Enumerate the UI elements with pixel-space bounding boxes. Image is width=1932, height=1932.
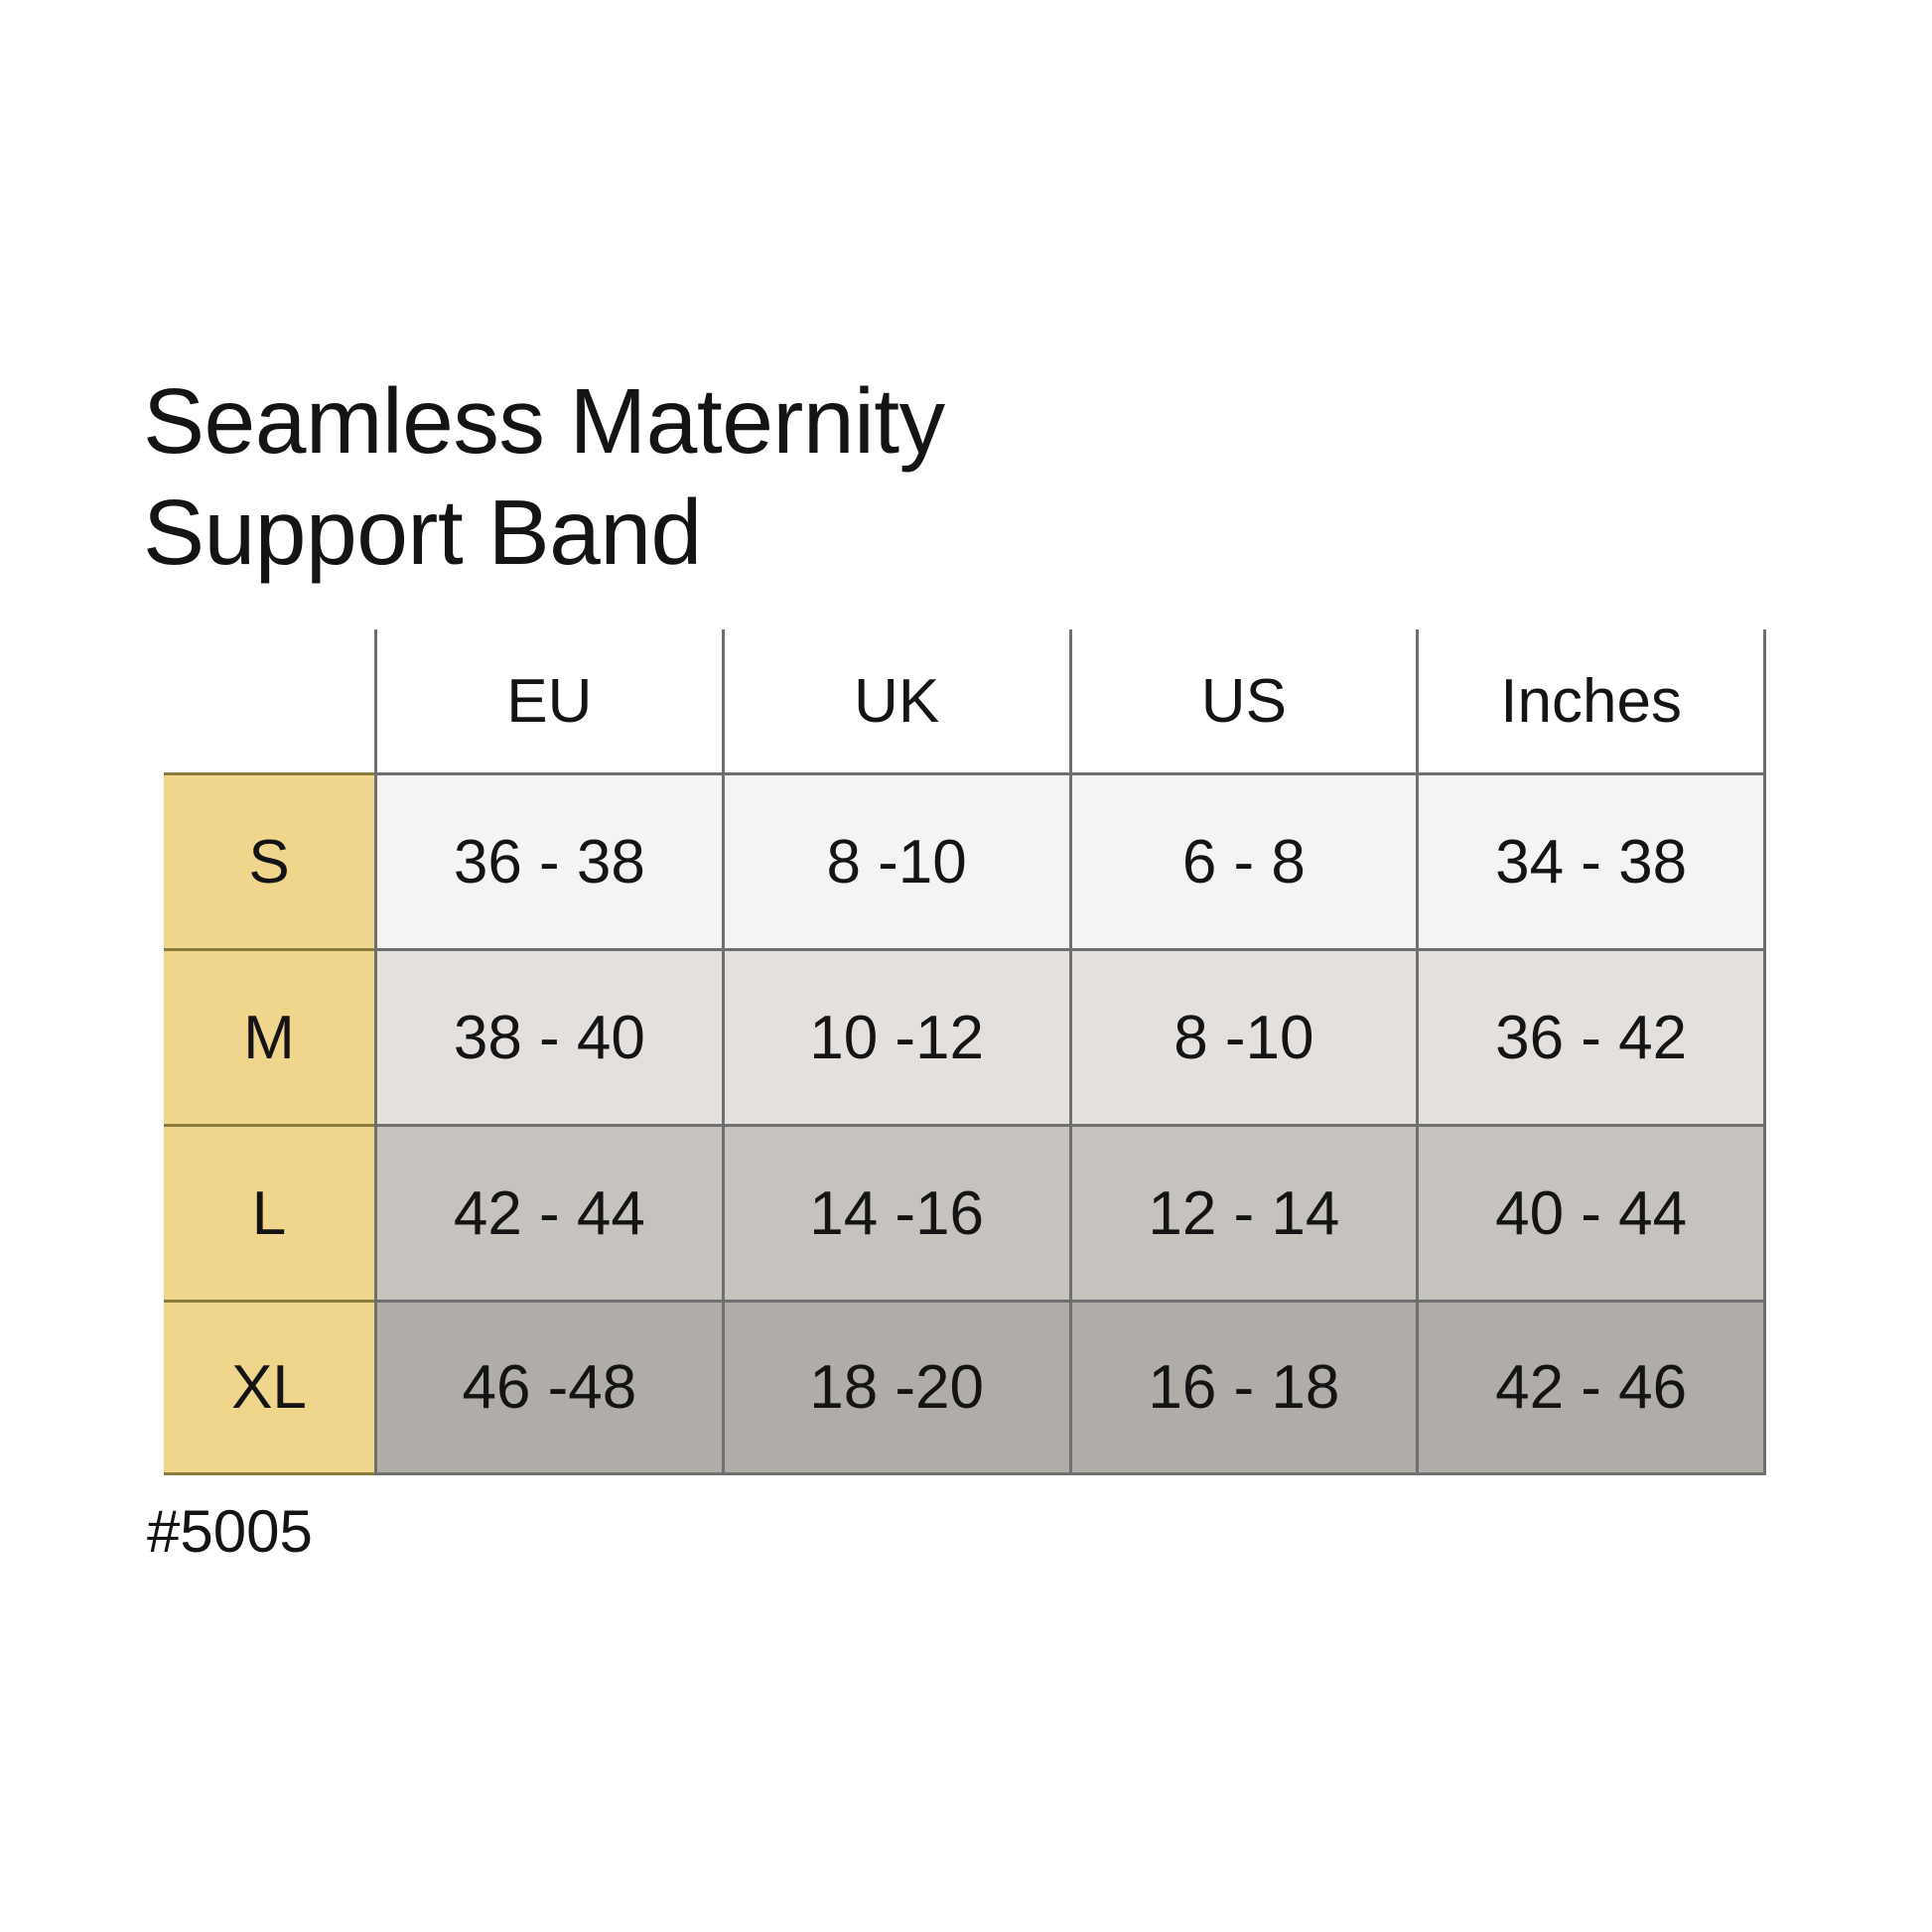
column-header-eu: EU bbox=[374, 629, 722, 772]
cell-xl-eu: 46 -48 bbox=[374, 1303, 722, 1472]
cell-xl-inches: 42 - 46 bbox=[1416, 1303, 1766, 1472]
cell-m-inches: 36 - 42 bbox=[1416, 951, 1766, 1124]
product-code: #5005 bbox=[147, 1497, 313, 1566]
cell-s-us: 6 - 8 bbox=[1069, 775, 1417, 948]
cell-s-uk: 8 -10 bbox=[722, 775, 1069, 948]
cell-m-uk: 10 -12 bbox=[722, 951, 1069, 1124]
table-row-l: L 42 - 44 14 -16 12 - 14 40 - 44 bbox=[164, 1124, 1766, 1300]
size-label-l: L bbox=[164, 1124, 374, 1300]
cell-l-inches: 40 - 44 bbox=[1416, 1127, 1766, 1300]
column-header-inches: Inches bbox=[1416, 629, 1766, 772]
size-label-m: M bbox=[164, 948, 374, 1124]
cell-xl-uk: 18 -20 bbox=[722, 1303, 1069, 1472]
column-header-us: US bbox=[1069, 629, 1417, 772]
page-title-line-2: Support Band bbox=[143, 477, 1334, 588]
size-label-s: S bbox=[164, 772, 374, 948]
page-title: Seamless Maternity Support Band bbox=[143, 365, 1334, 588]
size-chart-table: EU UK US Inches S 36 - 38 8 -10 6 - 8 34… bbox=[164, 629, 1766, 1475]
cell-l-us: 12 - 14 bbox=[1069, 1127, 1417, 1300]
size-label-xl: XL bbox=[164, 1300, 374, 1475]
cell-m-us: 8 -10 bbox=[1069, 951, 1417, 1124]
cell-l-eu: 42 - 44 bbox=[374, 1127, 722, 1300]
table-row-xl: XL 46 -48 18 -20 16 - 18 42 - 46 bbox=[164, 1300, 1766, 1475]
table-header-row: EU UK US Inches bbox=[164, 629, 1766, 772]
table-row-s: S 36 - 38 8 -10 6 - 8 34 - 38 bbox=[164, 772, 1766, 948]
page-title-line-1: Seamless Maternity bbox=[143, 365, 1334, 477]
table-row-m: M 38 - 40 10 -12 8 -10 36 - 42 bbox=[164, 948, 1766, 1124]
cell-s-inches: 34 - 38 bbox=[1416, 775, 1766, 948]
size-chart-page: Seamless Maternity Support Band EU UK US… bbox=[0, 0, 1932, 1932]
cell-l-uk: 14 -16 bbox=[722, 1127, 1069, 1300]
header-size-cell bbox=[164, 629, 374, 772]
cell-m-eu: 38 - 40 bbox=[374, 951, 722, 1124]
cell-xl-us: 16 - 18 bbox=[1069, 1303, 1417, 1472]
column-header-uk: UK bbox=[722, 629, 1069, 772]
cell-s-eu: 36 - 38 bbox=[374, 775, 722, 948]
